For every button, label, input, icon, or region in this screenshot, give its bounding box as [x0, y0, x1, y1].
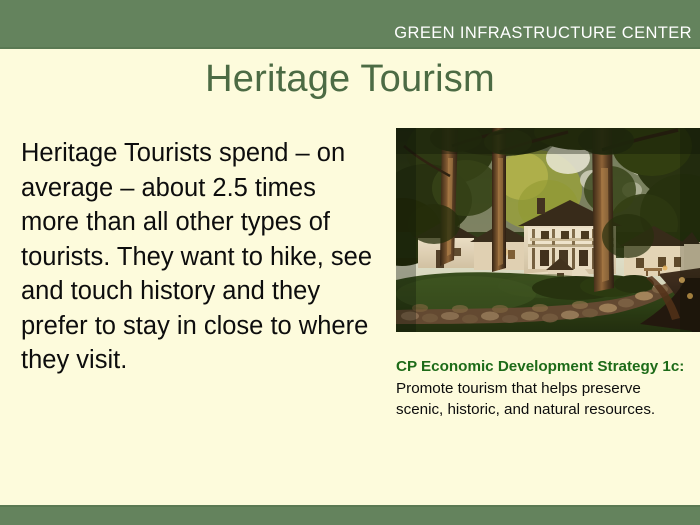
heritage-site-photo — [396, 128, 700, 332]
body-paragraph: Heritage Tourists spend – on average – a… — [21, 136, 373, 378]
caption-lead: CP Economic Development Strategy 1c: — [396, 358, 684, 375]
photo-caption: CP Economic Development Strategy 1c: Pro… — [396, 356, 688, 421]
page-title: Heritage Tourism — [0, 58, 700, 101]
header-divider-rule — [0, 47, 700, 49]
slide-footer-bar — [0, 507, 700, 525]
photo-illustration — [396, 128, 700, 332]
organization-name: GREEN INFRASTRUCTURE CENTER — [394, 24, 692, 43]
presentation-slide: GREEN INFRASTRUCTURE CENTER Heritage Tou… — [0, 0, 700, 525]
caption-rest: Promote tourism that helps preserve scen… — [396, 380, 655, 419]
